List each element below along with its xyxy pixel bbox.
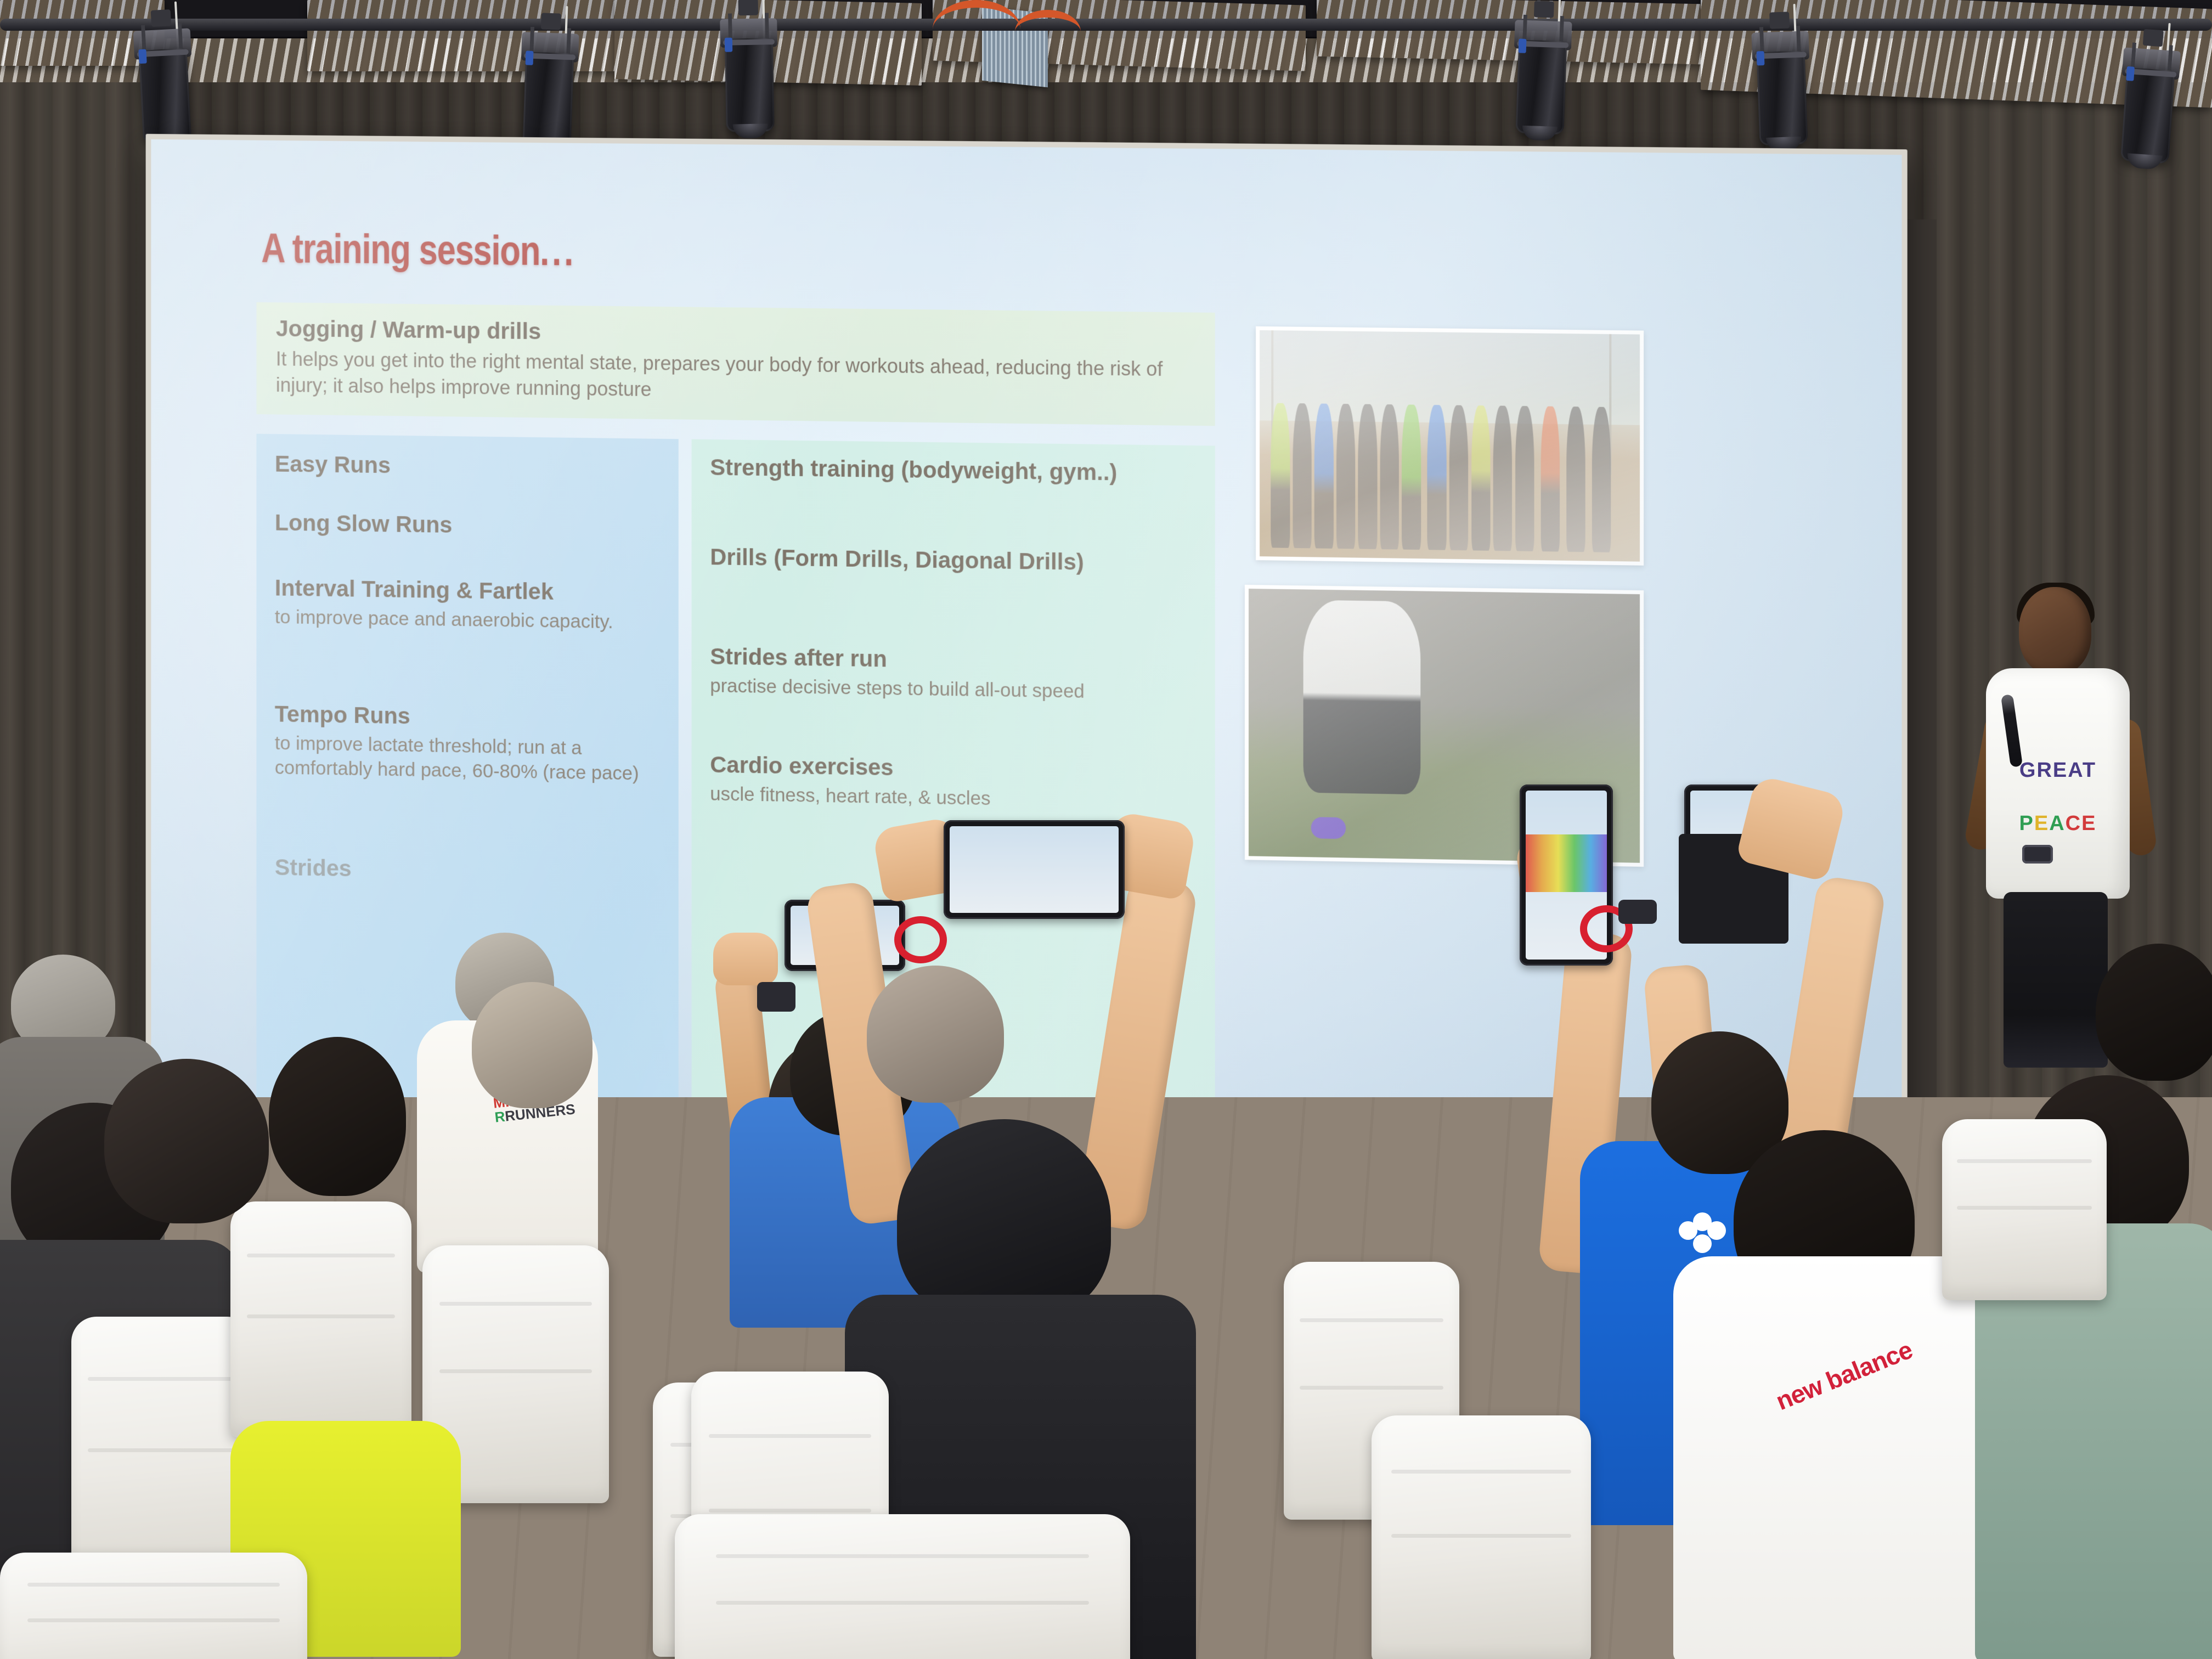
right-item-2-body: practise decisive steps to build all-out… [710,673,1201,706]
head [104,1059,269,1223]
audience-person-center-back [850,966,1015,1196]
left-item-4-heading: Strides [275,854,665,888]
right-item-3-body: uscle fitness, heart rate, & uscles [710,781,1201,815]
hand [713,933,778,985]
slide-photo-runners-group [1256,326,1644,566]
title-ellipsis: ... [540,228,576,274]
warmup-body: It helps you get into the right mental s… [276,346,1202,410]
ceiling-panel-d [1317,0,1701,64]
head [2096,944,2212,1081]
left-item-3-heading: Tempo Runs [275,701,665,734]
left-item-0-heading: Easy Runs [275,450,665,482]
orange-power-cable-2 [1015,10,1081,59]
left-item-1-heading: Long Slow Runs [275,509,665,541]
orange-power-cable [933,0,1020,60]
smartwatch [1618,900,1657,924]
smartwatch [757,982,795,1006]
phone-screen-rainbow-artifact [1526,834,1607,892]
chair [1372,1415,1591,1659]
torso [1673,1256,2024,1659]
phone-raised-center[interactable] [944,820,1125,919]
audience-person-glasses [88,1059,285,1399]
right-item-0-heading: Strength training (bodyweight, gym..) [710,454,1201,487]
head [867,966,1004,1103]
left-item-2-body: to improve pace and anaerobic capacity. [275,605,665,635]
presenter-wristwatch [2022,845,2053,864]
audience-person-grey-hair [450,982,614,1289]
slide-title: A training session... [261,224,576,275]
presenter-head [2019,587,2091,675]
head [472,982,592,1108]
presenter-shirt-text-line1: GREAT [1986,759,2130,782]
head [269,1037,406,1196]
chair [1942,1119,2107,1300]
photo-scene: A training session... Jogging / Warm-up … [0,0,2212,1659]
phone-screen [950,826,1119,913]
chair [0,1553,307,1659]
warmup-box: Jogging / Warm-up drills It helps you ge… [256,302,1215,426]
left-item-3-body: to improve lactate threshold; run at a c… [275,731,665,787]
presenter-shirt-text-line2: PEACE [1986,812,2130,836]
right-item-2-heading: Strides after run [710,643,1201,678]
warmup-heading: Jogging / Warm-up drills [276,315,541,345]
right-item-1-heading: Drills (Form Drills, Diagonal Drills) [710,543,1201,577]
chair [675,1514,1130,1659]
left-item-2-heading: Interval Training & Fartlek [275,574,665,607]
ceiling-pipe [0,19,2212,31]
right-item-3-heading: Cardio exercises [710,751,1201,786]
red-wristband [894,916,947,963]
